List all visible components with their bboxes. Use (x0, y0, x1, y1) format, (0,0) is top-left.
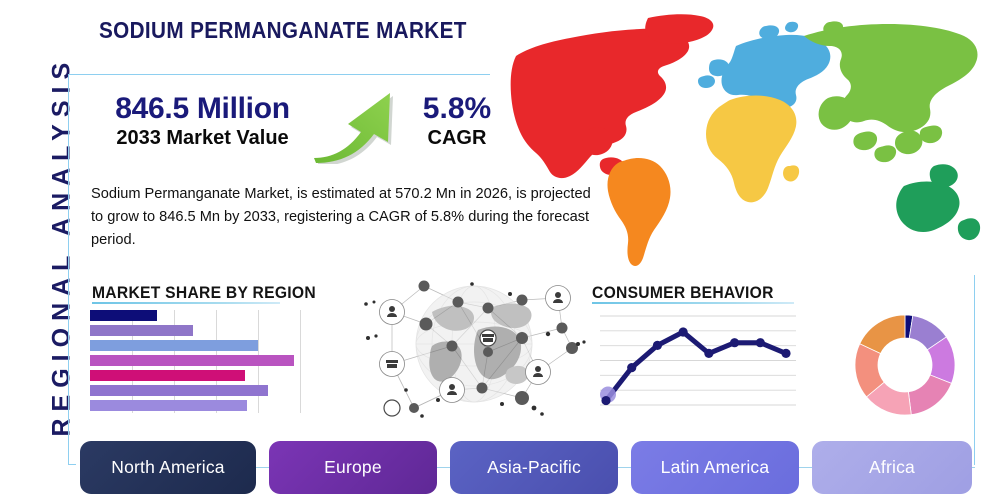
market-value-caption: 2033 Market Value (90, 126, 315, 150)
cagr-caption: CAGR (402, 126, 512, 150)
bar-segment (90, 400, 247, 411)
region-button-europe[interactable]: Europe (269, 441, 437, 494)
section-rule-market-share (92, 302, 280, 304)
region-button-latin-america[interactable]: Latin America (631, 441, 799, 494)
table-row (90, 355, 305, 366)
market-share-bar-chart (90, 310, 305, 413)
table-row (90, 400, 305, 411)
growth-arrow-icon (312, 84, 407, 164)
global-network-globe-icon (362, 272, 586, 422)
market-value-number: 846.5 Million (90, 92, 315, 126)
region-button-north-america[interactable]: North America (80, 441, 256, 494)
vertical-section-label: REGIONAL ANALYSIS (48, 77, 77, 437)
region-button-asia-pacific[interactable]: Asia-Pacific (450, 441, 618, 494)
bar-segment (90, 340, 258, 351)
section-title-market-share: MARKET SHARE BY REGION (92, 283, 316, 303)
cagr-stat: 5.8% CAGR (402, 92, 512, 150)
region-button-africa[interactable]: Africa (812, 441, 972, 494)
bar-segment (90, 310, 157, 321)
infographic-root: REGIONAL ANALYSIS SODIUM PERMANGANATE MA… (0, 0, 1000, 500)
bar-segment (90, 355, 294, 366)
key-stats-row: 846.5 Million 2033 Market Value 5.8% CAG… (90, 92, 510, 167)
market-value-stat: 846.5 Million 2033 Market Value (90, 92, 315, 150)
page-title: SODIUM PERMANGANATE MARKET (99, 17, 467, 44)
section-rule-consumer-behavior (592, 302, 794, 304)
cagr-number: 5.8% (402, 92, 512, 126)
section-title-consumer-behavior: CONSUMER BEHAVIOR (592, 283, 774, 303)
table-row (90, 370, 305, 381)
consumer-behavior-line-chart (600, 308, 796, 415)
table-row (90, 340, 305, 351)
region-buttons-row: North America Europe Asia-Pacific Latin … (80, 441, 975, 494)
table-row (90, 325, 305, 336)
bar-segment (90, 370, 245, 381)
segment-donut-chart (851, 311, 959, 419)
table-row (90, 310, 305, 321)
table-row (90, 385, 305, 396)
bar-segment (90, 385, 268, 396)
bar-segment (90, 325, 193, 336)
world-map-icon (498, 8, 998, 270)
